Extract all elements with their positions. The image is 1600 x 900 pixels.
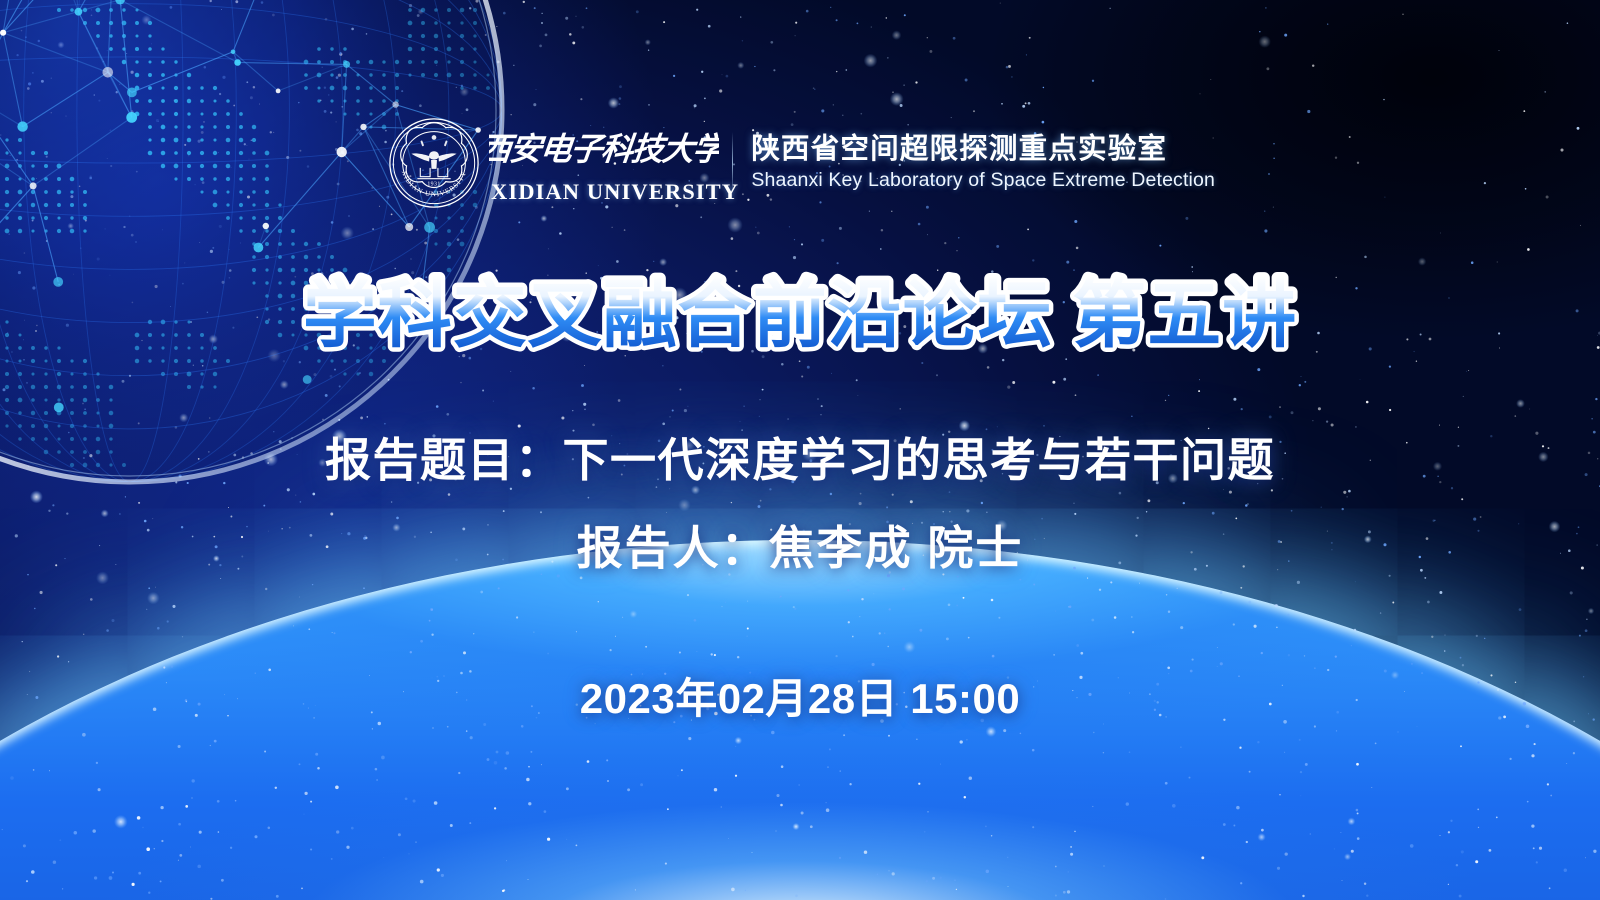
xidian-university-seal-icon: 1931 XIDIAN UNIVERSITY xyxy=(385,114,483,212)
digital-network-globe-icon xyxy=(0,0,510,490)
topic-line: 报告题目：下一代深度学习的思考与若干问题 xyxy=(0,424,1600,490)
forum-title-text: 学科交叉融合前沿论坛 第五讲 xyxy=(303,275,1298,357)
laboratory-name-block: 陕西省空间超限探测重点实验室 Shaanxi Key Laboratory of… xyxy=(751,134,1215,193)
university-name-cn-text: 西安电子科技大学 xyxy=(489,131,719,167)
university-name-block: 西安电子科技大学 XIDIAN UNIVERSITY xyxy=(489,120,718,206)
speaker-line: 报告人：焦李成 院士 xyxy=(0,512,1600,578)
laboratory-name-en: Shaanxi Key Laboratory of Space Extreme … xyxy=(751,169,1215,192)
laboratory-name-cn: 陕西省空间超限探测重点实验室 xyxy=(751,134,1215,166)
header-brand-bar: 1931 XIDIAN UNIVERSITY 西安电子科技大学 XIDIAN U… xyxy=(385,112,1215,214)
university-name-cn: 西安电子科技大学 xyxy=(489,122,719,172)
earth-surface-speckle xyxy=(0,730,1600,900)
forum-title: 学科交叉融合前沿论坛 第五讲 xyxy=(0,268,1600,360)
seal-year: 1931 xyxy=(427,182,440,188)
datetime-line: 2023年02月28日 15:00 xyxy=(0,665,1600,726)
background-dark-vignette xyxy=(840,0,1600,430)
university-name-en: XIDIAN UNIVERSITY xyxy=(491,179,719,205)
presentation-poster: 1931 XIDIAN UNIVERSITY 西安电子科技大学 XIDIAN U… xyxy=(0,0,1600,900)
